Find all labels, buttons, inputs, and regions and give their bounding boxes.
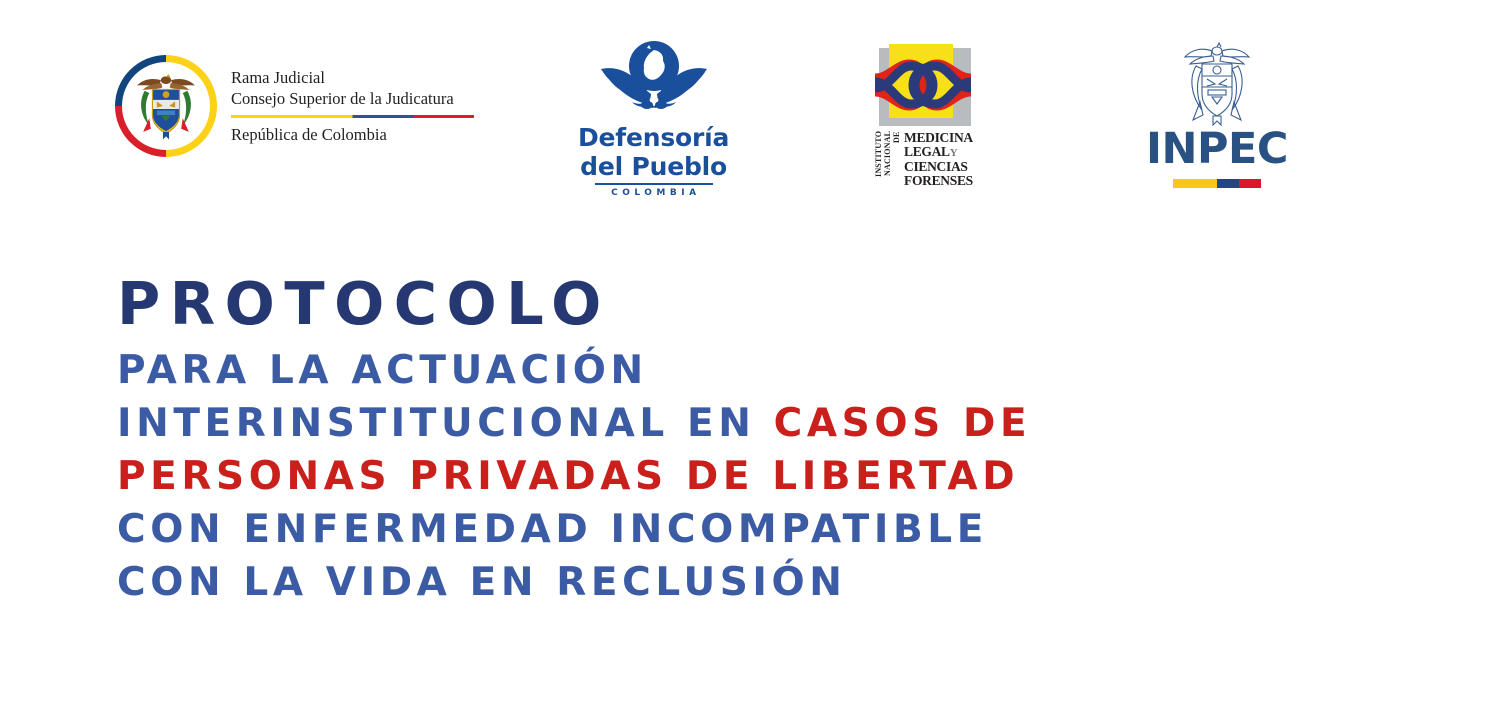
rama-judicial-line1: Rama Judicial: [231, 67, 474, 88]
colombia-coat-of-arms-outline-icon: [1180, 40, 1254, 126]
rama-judicial-line3: República de Colombia: [231, 124, 474, 145]
medicina-legal-vertical-line2: NACIONAL DE: [883, 131, 901, 185]
medicina-legal-wordmark: INSTITUTO NACIONAL DE MEDICINA LEGALY CI…: [874, 131, 973, 187]
inpec-wordmark: INPEC: [1146, 127, 1288, 172]
logo-rama-judicial: Rama Judicial Consejo Superior de la Jud…: [115, 55, 474, 157]
two-doves-colombia-map-icon: [590, 38, 718, 122]
medicina-legal-vertical-text: INSTITUTO NACIONAL DE: [874, 131, 901, 185]
defensoria-name-line1: Defensoría: [578, 124, 729, 151]
medicina-legal-line4: FORENSES: [904, 174, 973, 188]
medicina-legal-main-text: MEDICINA LEGALY CIENCIAS FORENSES: [904, 131, 973, 187]
institutional-logo-row: Rama Judicial Consejo Superior de la Jud…: [0, 0, 1500, 215]
rama-judicial-wordmark: Rama Judicial Consejo Superior de la Jud…: [231, 67, 474, 145]
yellow-square-ribbon-eye-icon: [875, 44, 971, 126]
subtitle-line-5: CON LA VIDA EN RECLUSIÓN: [117, 556, 1217, 609]
logo-inpec: INPEC: [1146, 40, 1288, 188]
medicina-legal-line3: CIENCIAS: [904, 160, 973, 174]
colombia-flag-rule: [231, 115, 474, 118]
subtitle-line-2-red: CASOS DE: [774, 401, 1032, 446]
page-title: PROTOCOLO: [117, 272, 1217, 336]
colombia-flag-bar-icon: [1173, 179, 1261, 188]
logo-defensoria-del-pueblo: Defensoría del Pueblo COLOMBIA: [578, 38, 729, 198]
defensoria-country: COLOMBIA: [607, 188, 701, 198]
defensoria-name-line2: del Pueblo: [580, 153, 727, 180]
subtitle-line-3: PERSONAS PRIVADAS DE LIBERTAD: [117, 450, 1217, 503]
medicina-legal-conjunction: Y: [950, 147, 958, 159]
subtitle-line-4: CON ENFERMEDAD INCOMPATIBLE: [117, 503, 1217, 556]
medicina-legal-vertical-line1: INSTITUTO: [874, 131, 883, 185]
medicina-legal-emblem: [875, 44, 971, 126]
medicina-legal-line2: LEGAL: [904, 144, 950, 159]
defensoria-rule: [595, 183, 713, 185]
rama-judicial-seal: [115, 55, 217, 157]
subtitle-line-2: INTERINSTITUCIONAL EN CASOS DE: [117, 397, 1217, 450]
cover-title-block: PROTOCOLO PARA LA ACTUACIÓN INTERINSTITU…: [117, 272, 1217, 609]
subtitle-line-2-blue: INTERINSTITUCIONAL EN: [117, 401, 774, 446]
subtitle-line-1: PARA LA ACTUACIÓN: [117, 344, 1217, 397]
rama-judicial-line2: Consejo Superior de la Judicatura: [231, 88, 474, 109]
logo-medicina-legal: INSTITUTO NACIONAL DE MEDICINA LEGALY CI…: [874, 44, 973, 187]
medicina-legal-line1: MEDICINA: [904, 131, 973, 145]
colombia-coat-of-arms-icon: [128, 68, 204, 144]
